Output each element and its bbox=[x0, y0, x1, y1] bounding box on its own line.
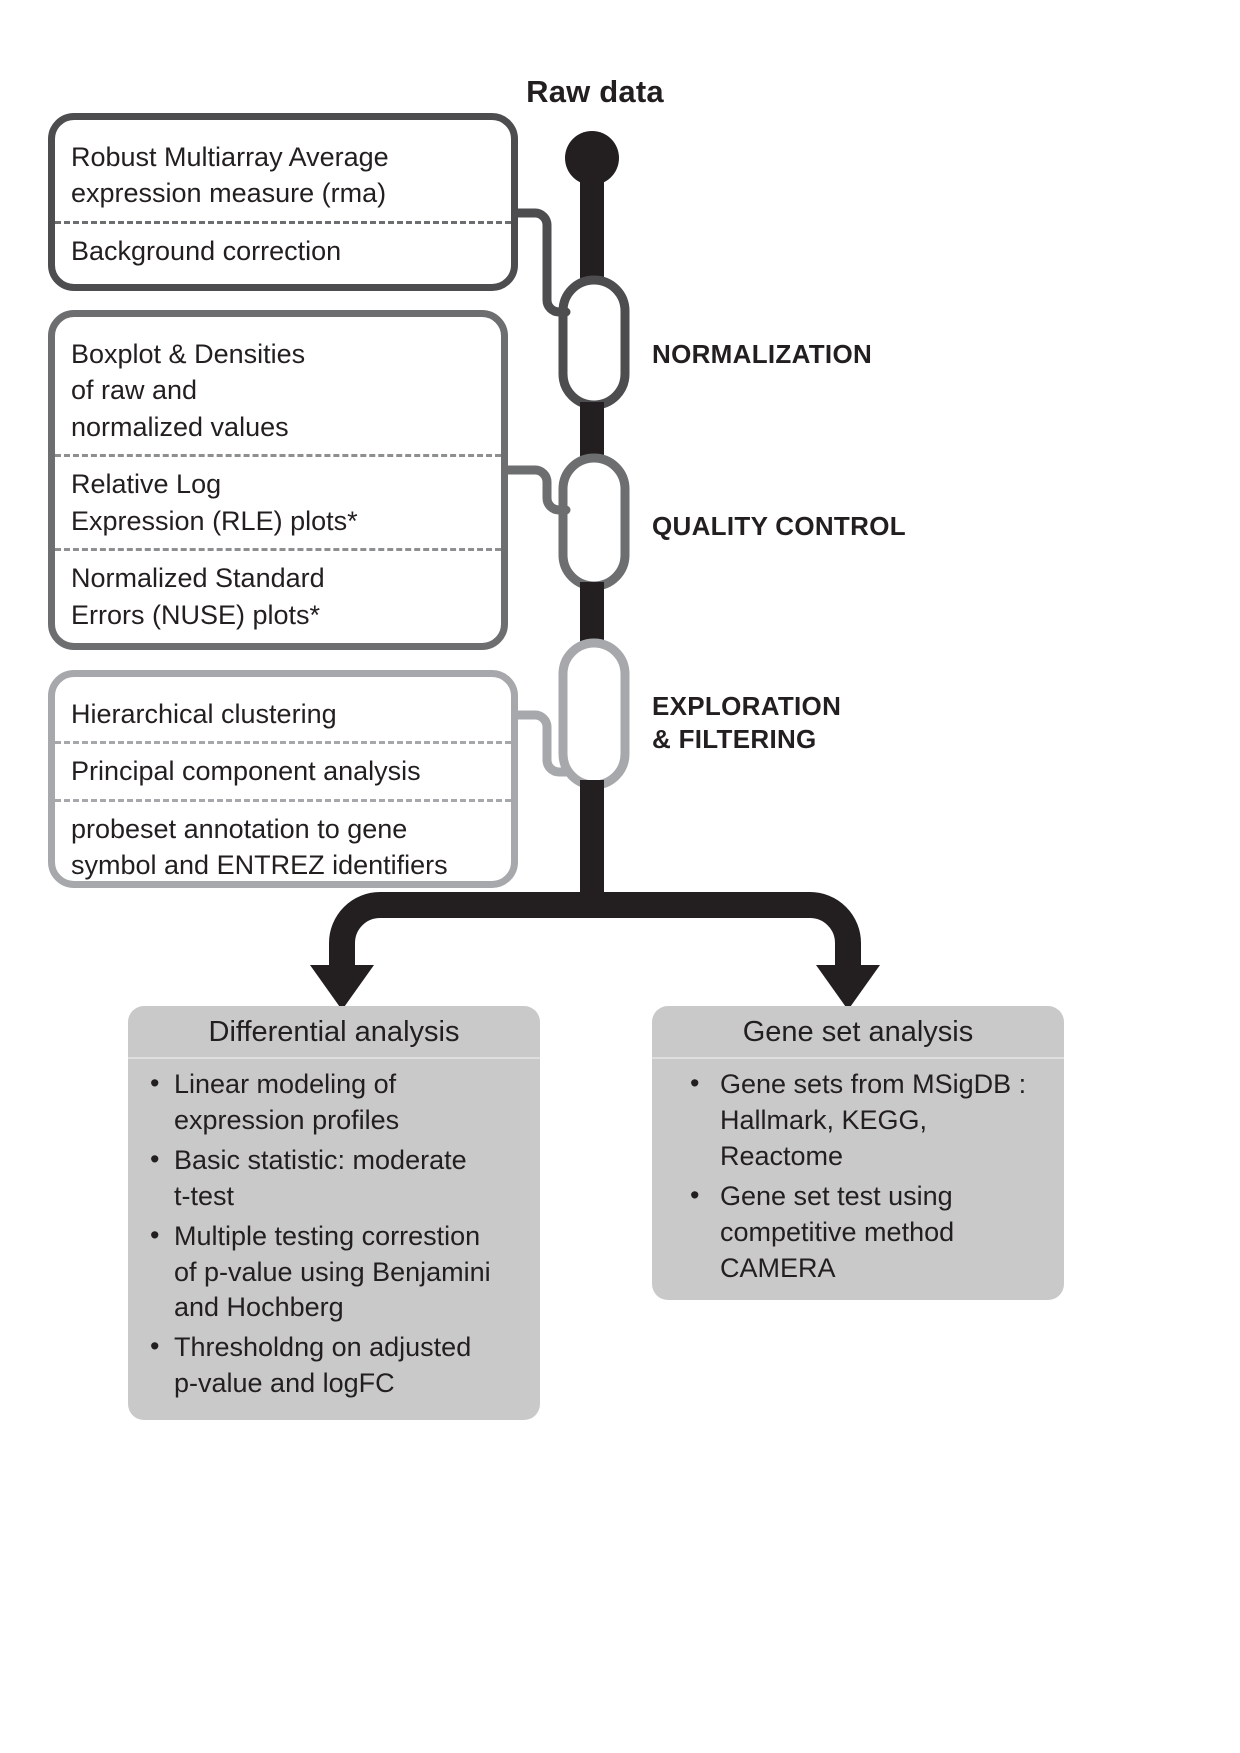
step-item: probeset annotation to gene symbol and E… bbox=[55, 799, 511, 893]
step-item: Robust Multiarray Average expression mea… bbox=[55, 130, 511, 221]
stage-pill-quality bbox=[563, 458, 625, 586]
workflow-diagram: Raw data NORMALIZATION QUALITY CONTROL E… bbox=[0, 0, 1240, 1753]
panel-bullet-list: Gene sets from MSigDB : Hallmark, KEGG, … bbox=[652, 1059, 1064, 1300]
split-branch-right bbox=[592, 905, 848, 985]
list-item: Multiple testing correstion of p-value u… bbox=[144, 1219, 524, 1327]
arrowhead-left bbox=[310, 965, 374, 1010]
spine-segment-1 bbox=[580, 402, 604, 462]
connector-exploration bbox=[510, 715, 566, 772]
stage-label-quality-control: QUALITY CONTROL bbox=[652, 510, 906, 543]
panel-bullet-list: Linear modeling of expression profiles B… bbox=[128, 1059, 540, 1416]
arrowhead-right bbox=[816, 965, 880, 1010]
stage-label-normalization: NORMALIZATION bbox=[652, 338, 872, 371]
panel-title: Differential analysis bbox=[128, 1006, 540, 1059]
connector-quality bbox=[508, 470, 566, 510]
step-box-quality-control: Boxplot & Densities of raw and normalize… bbox=[48, 310, 508, 650]
stage-pill-exploration bbox=[563, 643, 625, 785]
panel-title: Gene set analysis bbox=[652, 1006, 1064, 1059]
step-box-exploration-filtering: Hierarchical clustering Principal compon… bbox=[48, 670, 518, 888]
step-item: Relative Log Expression (RLE) plots* bbox=[55, 454, 501, 548]
stage-label-exploration-filtering: EXPLORATION & FILTERING bbox=[652, 690, 841, 757]
spine-segment-3 bbox=[580, 780, 604, 915]
list-item: Basic statistic: moderate t-test bbox=[144, 1143, 524, 1215]
step-item: Hierarchical clustering bbox=[55, 687, 511, 741]
step-item: Normalized Standard Errors (NUSE) plots* bbox=[55, 548, 501, 642]
spine-segment-2 bbox=[580, 582, 604, 646]
stage-pill-normalization bbox=[563, 280, 625, 405]
list-item: Thresholdng on adjusted p-value and logF… bbox=[144, 1330, 524, 1402]
step-item: Boxplot & Densities of raw and normalize… bbox=[55, 327, 501, 454]
output-panel-differential-analysis: Differential analysis Linear modeling of… bbox=[128, 1006, 540, 1420]
split-branch-left bbox=[342, 905, 592, 985]
output-panel-gene-set-analysis: Gene set analysis Gene sets from MSigDB … bbox=[652, 1006, 1064, 1300]
list-item: Gene sets from MSigDB : Hallmark, KEGG, … bbox=[668, 1067, 1048, 1175]
step-box-normalization: Robust Multiarray Average expression mea… bbox=[48, 113, 518, 291]
step-item: Background correction bbox=[55, 221, 511, 278]
spine-segment-top bbox=[580, 158, 604, 283]
step-item: Principal component analysis bbox=[55, 741, 511, 798]
raw-data-title: Raw data bbox=[470, 74, 720, 110]
list-item: Linear modeling of expression profiles bbox=[144, 1067, 524, 1139]
raw-data-node bbox=[565, 131, 619, 185]
list-item: Gene set test using competitive method C… bbox=[668, 1179, 1048, 1287]
